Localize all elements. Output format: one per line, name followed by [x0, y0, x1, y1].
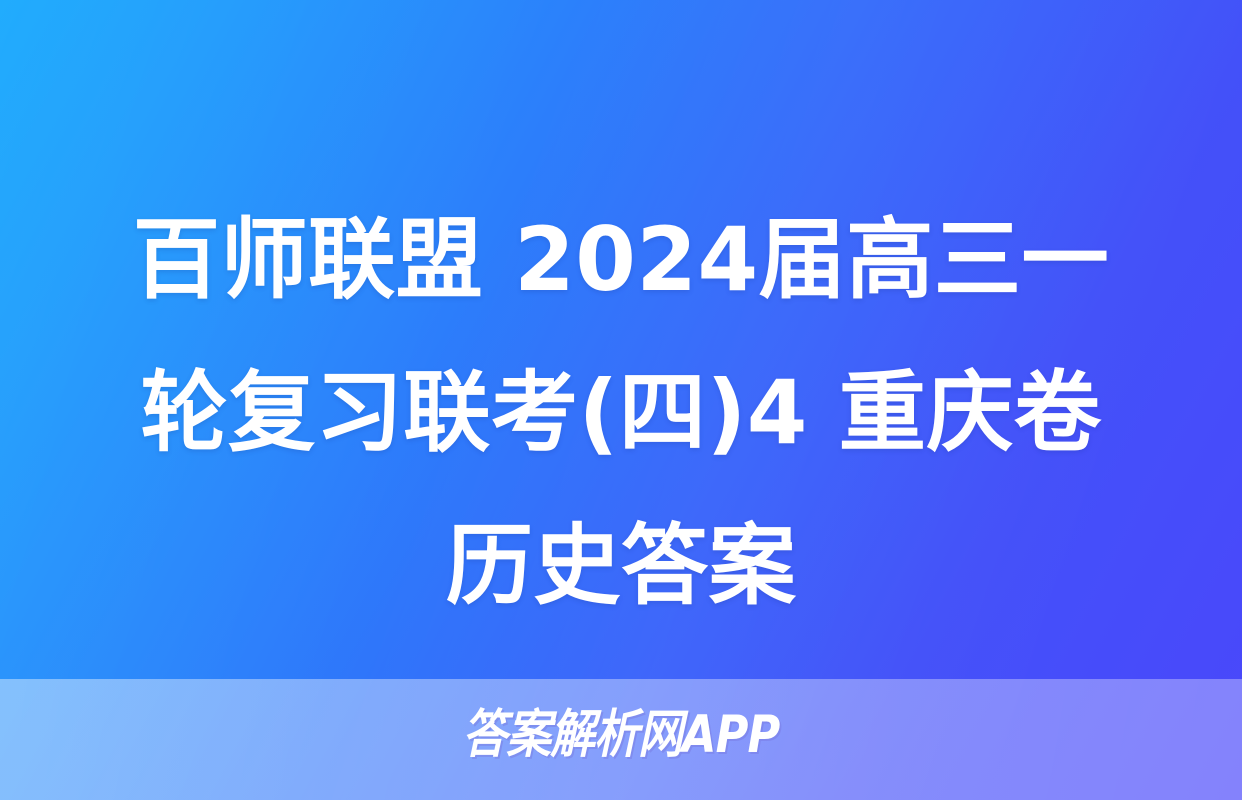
answer-cover-card: 百师联盟 2024届高三一 轮复习联考(四)4 重庆卷 历史答案 答案解析网AP… [0, 0, 1242, 800]
page-title: 百师联盟 2024届高三一 轮复习联考(四)4 重庆卷 历史答案 [0, 183, 1242, 642]
footer-brand-watermark: 答案解析网APP [87, 704, 1155, 766]
title-line-1: 百师联盟 2024届高三一 [46, 183, 1196, 336]
title-line-2: 轮复习联考(四)4 重庆卷 [46, 336, 1196, 489]
title-line-3: 历史答案 [46, 489, 1196, 642]
